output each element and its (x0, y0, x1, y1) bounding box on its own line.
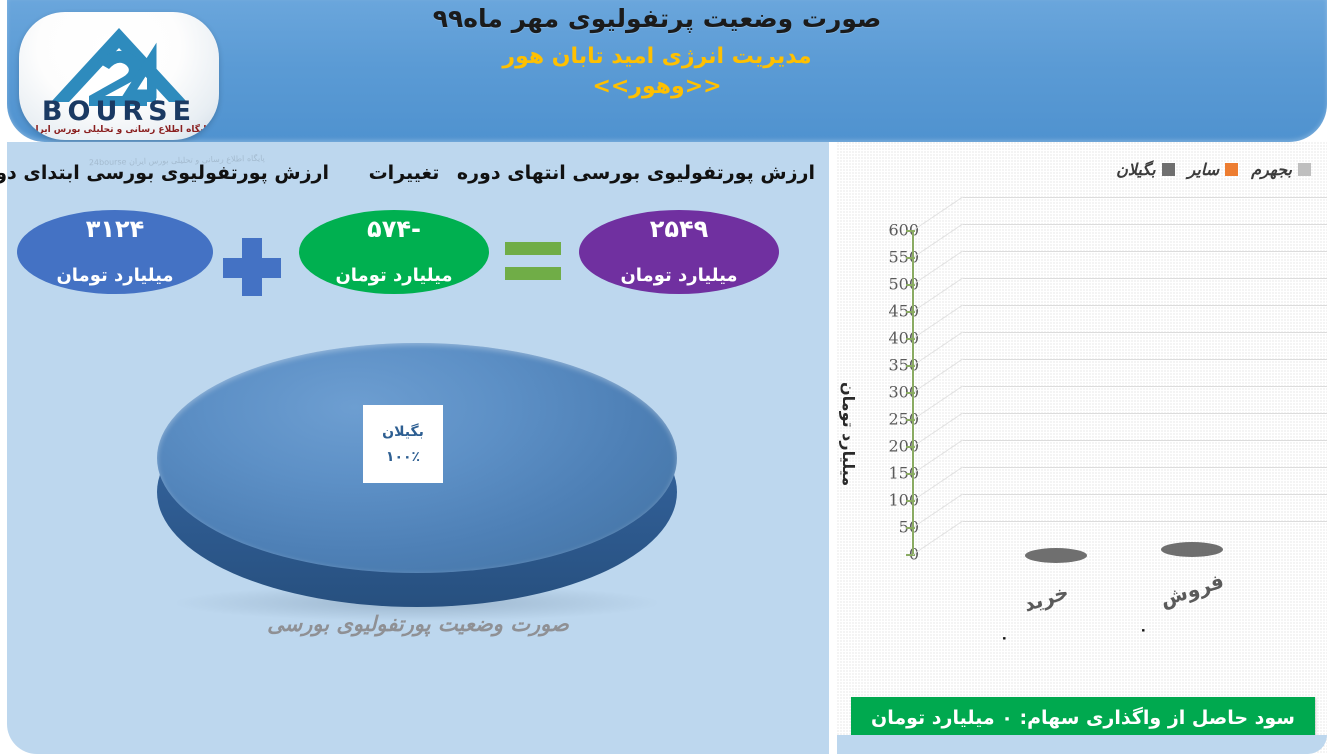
chart-gridline (964, 440, 1328, 441)
chart-gridline (964, 251, 1328, 252)
legend-item-bajahrom[interactable]: بجهرم (1252, 160, 1312, 179)
legend-label-bgilan: بگیلان (1117, 160, 1156, 179)
logo-tagline: پایگاه اطلاع رسانی و تحلیلی بورس ایران (20, 125, 220, 135)
chart-depth-line (914, 359, 964, 393)
chart-x-label-sell: فروش (1158, 568, 1228, 611)
stat-label-changes: تغییرات (330, 162, 480, 184)
chart-legend: بجهرم سایر بگیلان (1117, 160, 1312, 179)
stat-value-end: ۲۵۴۹ (651, 216, 710, 242)
chart-gridline (964, 278, 1328, 279)
chart-gridline (964, 413, 1328, 414)
pie-chart-caption: صورت وضعیت پورتفولیوی بورسی (8, 612, 830, 636)
stat-bubble-changes: -۵۷۴ میلیارد تومان (300, 210, 490, 294)
portfolio-summary-panel: پایگاه اطلاع رسانی و تحلیلی بورس ایران 2… (8, 142, 830, 754)
chart-gridline (964, 224, 1328, 225)
dashboard-root: صورت وضعیت پرتفولیوی مهر ماه۹۹ مدیریت ان… (0, 0, 1334, 754)
legend-item-other[interactable]: سایر (1189, 160, 1240, 179)
chart-depth-line (914, 197, 964, 231)
chart-gridline (964, 467, 1328, 468)
chart-plot-area: میلیارد تومان 60055050045040035030025020… (838, 212, 1328, 682)
stat-bubble-start-value: ۳۱۲۴ میلیارد تومان (18, 210, 214, 294)
stat-label-start-value: ارزش پورتفولیوی بورسی ابتدای دوره (12, 162, 330, 184)
chart-depth-line (914, 305, 964, 339)
chart-depth-line (914, 440, 964, 474)
stat-unit-start: میلیارد تومان (57, 266, 174, 286)
pie-callout-name: بگیلان (383, 424, 425, 440)
header-subtitle: مدیریت انرژی امید تابان هور <<وهور>> (158, 42, 1158, 102)
plus-operator-icon (224, 238, 282, 296)
legend-swatch-other (1226, 163, 1239, 176)
header-subtitle-line1: مدیریت انرژی امید تابان هور (158, 42, 1158, 72)
page-title: صورت وضعیت پرتفولیوی مهر ماه۹۹ (158, 4, 1158, 33)
chart-gridline (964, 521, 1328, 522)
brand-logo[interactable]: BOURSE پایگاه اطلاع رسانی و تحلیلی بورس … (20, 12, 220, 140)
chart-gridline (964, 305, 1328, 306)
chart-gridline (964, 197, 1328, 198)
bar-buy[interactable] (1026, 548, 1088, 563)
profit-status-text: سود حاصل از واگذاری سهام: ۰ میلیارد توما… (872, 707, 1296, 729)
footer-strip (838, 735, 1328, 754)
legend-label-bajahrom: بجهرم (1252, 160, 1293, 179)
chart-depth-line (914, 386, 964, 420)
legend-swatch-bgilan (1163, 163, 1176, 176)
chart-depth-line (914, 224, 964, 258)
logo-wordmark: BOURSE (20, 98, 220, 125)
chart-depth-line (914, 494, 964, 528)
chart-depth-line (914, 332, 964, 366)
header-subtitle-line2: <<وهور>> (158, 72, 1158, 102)
stat-unit-changes: میلیارد تومان (336, 266, 453, 286)
pie-callout-percent: ۱۰۰٪ (387, 449, 421, 465)
chart-gridline (964, 332, 1328, 333)
legend-item-bgilan[interactable]: بگیلان (1117, 160, 1175, 179)
chart-depth-line (914, 251, 964, 285)
chart-depth-line (914, 521, 964, 555)
bar-sell[interactable] (1162, 542, 1224, 557)
chart-x-label-buy: خرید (1021, 579, 1072, 616)
bourse-triangle-icon (20, 18, 220, 106)
legend-label-other: سایر (1189, 160, 1221, 179)
profit-status-bar: سود حاصل از واگذاری سهام: ۰ میلیارد توما… (852, 697, 1316, 739)
equals-operator-icon (506, 242, 562, 284)
chart-depth-line (914, 467, 964, 501)
stat-label-end-value: ارزش پورتفولیوی بورسی انتهای دوره (486, 162, 816, 184)
chart-x-value-buy: ۰ (1001, 630, 1010, 646)
stat-value-start: ۳۱۲۴ (87, 216, 146, 242)
stat-bubble-end-value: ۲۵۴۹ میلیارد تومان (580, 210, 780, 294)
stat-unit-end: میلیارد تومان (621, 266, 738, 286)
chart-depth-line (914, 278, 964, 312)
chart-x-value-sell: ۰ (1140, 622, 1149, 638)
chart-y-axis-line (913, 230, 915, 554)
chart-gridline (964, 494, 1328, 495)
chart-gridline (964, 386, 1328, 387)
legend-swatch-bajahrom (1299, 163, 1312, 176)
chart-depth-line (914, 413, 964, 447)
chart-gridline (964, 359, 1328, 360)
pie-slice-callout: بگیلان ۱۰۰٪ (364, 405, 444, 483)
buy-sell-bar-chart-panel: بجهرم سایر بگیلان میلیارد تومان 60055050… (838, 142, 1328, 754)
stat-value-changes: -۵۷۴ (368, 216, 422, 242)
